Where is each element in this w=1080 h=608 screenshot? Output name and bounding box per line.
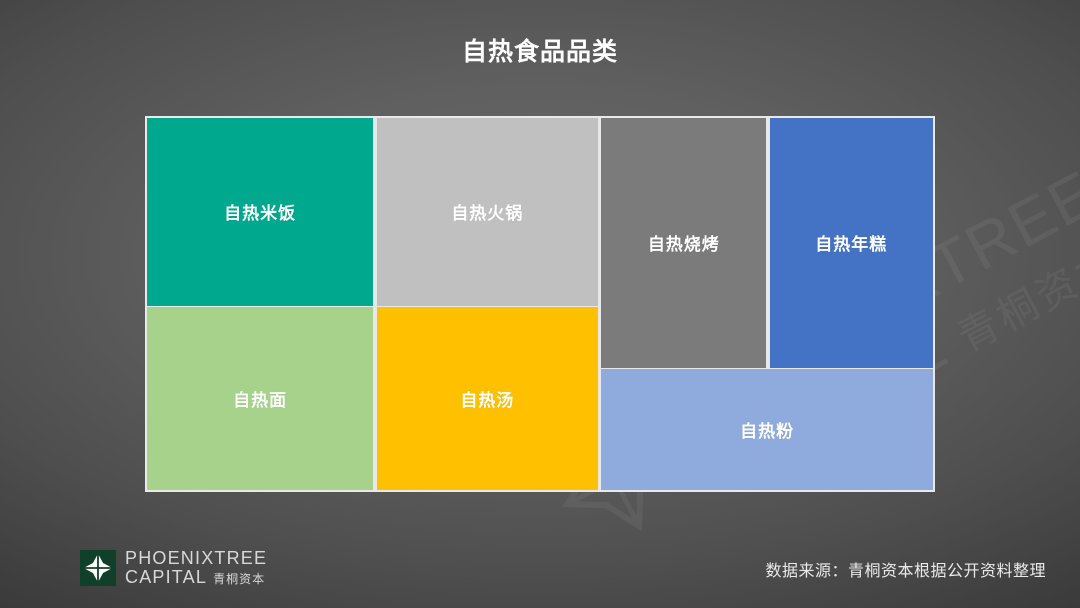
treemap-tile[interactable]: 自热烧烤	[601, 118, 766, 368]
logo-line-phoenixtree: PHOENIXTREE	[125, 549, 267, 567]
logo-chinese-name: 青桐资本	[213, 573, 265, 585]
treemap-chart: 自热米饭自热火锅自热面自热汤自热烧烤自热年糕自热粉	[145, 116, 935, 492]
phoenixtree-capital-logo: PHOENIXTREE CAPITAL 青桐资本	[80, 549, 267, 586]
treemap-tile-label: 自热汤	[460, 386, 514, 411]
phoenixtree-cube-icon	[80, 550, 116, 586]
treemap-tile-label: 自热年糕	[815, 230, 887, 255]
logo-wordmark: PHOENIXTREE CAPITAL 青桐资本	[125, 549, 267, 586]
treemap-tile-label: 自热面	[233, 386, 287, 411]
treemap-tile[interactable]: 自热米饭	[147, 118, 373, 306]
treemap-tile[interactable]: 自热汤	[377, 307, 599, 490]
slide-canvas: PHOENIXTREE CAPITAL 青桐资本 自热食品品类 自热米饭自热火锅…	[0, 0, 1080, 608]
treemap-tile-label: 自热粉	[740, 417, 794, 442]
treemap-tile[interactable]: 自热年糕	[770, 118, 933, 368]
watermark-chinese: 青桐资本	[951, 239, 1080, 360]
treemap-tile[interactable]: 自热火锅	[377, 118, 599, 306]
page-title: 自热食品品类	[0, 32, 1080, 68]
treemap-tile-label: 自热烧烤	[648, 230, 720, 255]
treemap-tile-label: 自热米饭	[224, 199, 296, 224]
source-note: 数据来源：青桐资本根据公开资料整理	[765, 557, 1046, 581]
treemap-tile[interactable]: 自热粉	[601, 369, 933, 490]
treemap-tile-label: 自热火锅	[451, 199, 523, 224]
logo-line-capital: CAPITAL	[125, 568, 207, 586]
treemap-tile[interactable]: 自热面	[147, 307, 373, 490]
